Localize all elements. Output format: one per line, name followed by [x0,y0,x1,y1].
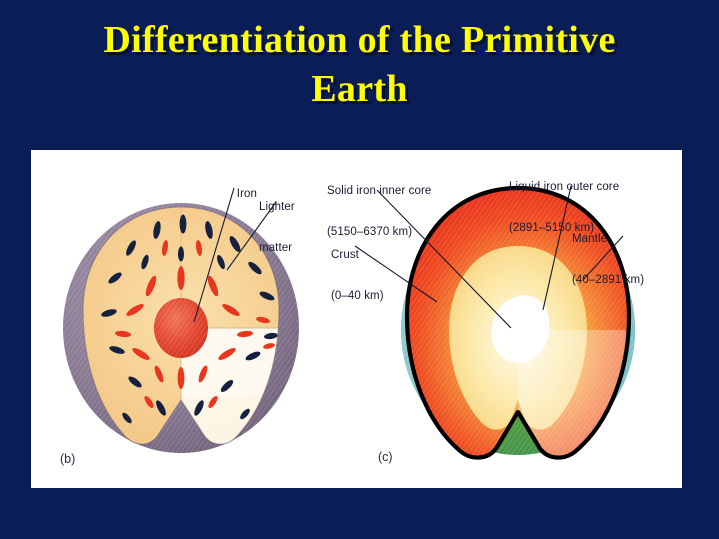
page-title-line-1: Differentiation of the Primitive [0,16,719,65]
label-mantle: Mantle (40–2891 km) [572,206,644,314]
label-lighter-matter-line-2: matter [259,242,295,256]
slide-canvas: Differentiation of the Primitive Earth [0,0,719,539]
page-title-line-2: Earth [0,65,719,114]
label-mantle-line-2: (40–2891 km) [572,274,644,288]
page-title: Differentiation of the Primitive Earth [0,16,719,113]
label-iron: Iron [217,174,257,215]
panel-letter-b: (b) [60,452,75,466]
label-mantle-line-1: Mantle [572,233,644,247]
label-crust-line-1: Crust [331,249,384,263]
label-iron-text: Iron [237,188,257,200]
label-solid-inner-core-line-1: Solid iron inner core [327,185,431,199]
label-crust-line-2: (0–40 km) [331,290,384,304]
label-crust: Crust (0–40 km) [331,222,384,330]
label-liquid-outer-core-line-1: Liquid iron outer core [509,181,619,195]
figure-panel: Iron Lighter matter Solid iron inner cor… [31,150,682,488]
label-lighter-matter: Lighter matter [259,174,295,282]
panel-letter-c: (c) [378,450,393,464]
label-lighter-matter-line-1: Lighter [259,201,295,215]
